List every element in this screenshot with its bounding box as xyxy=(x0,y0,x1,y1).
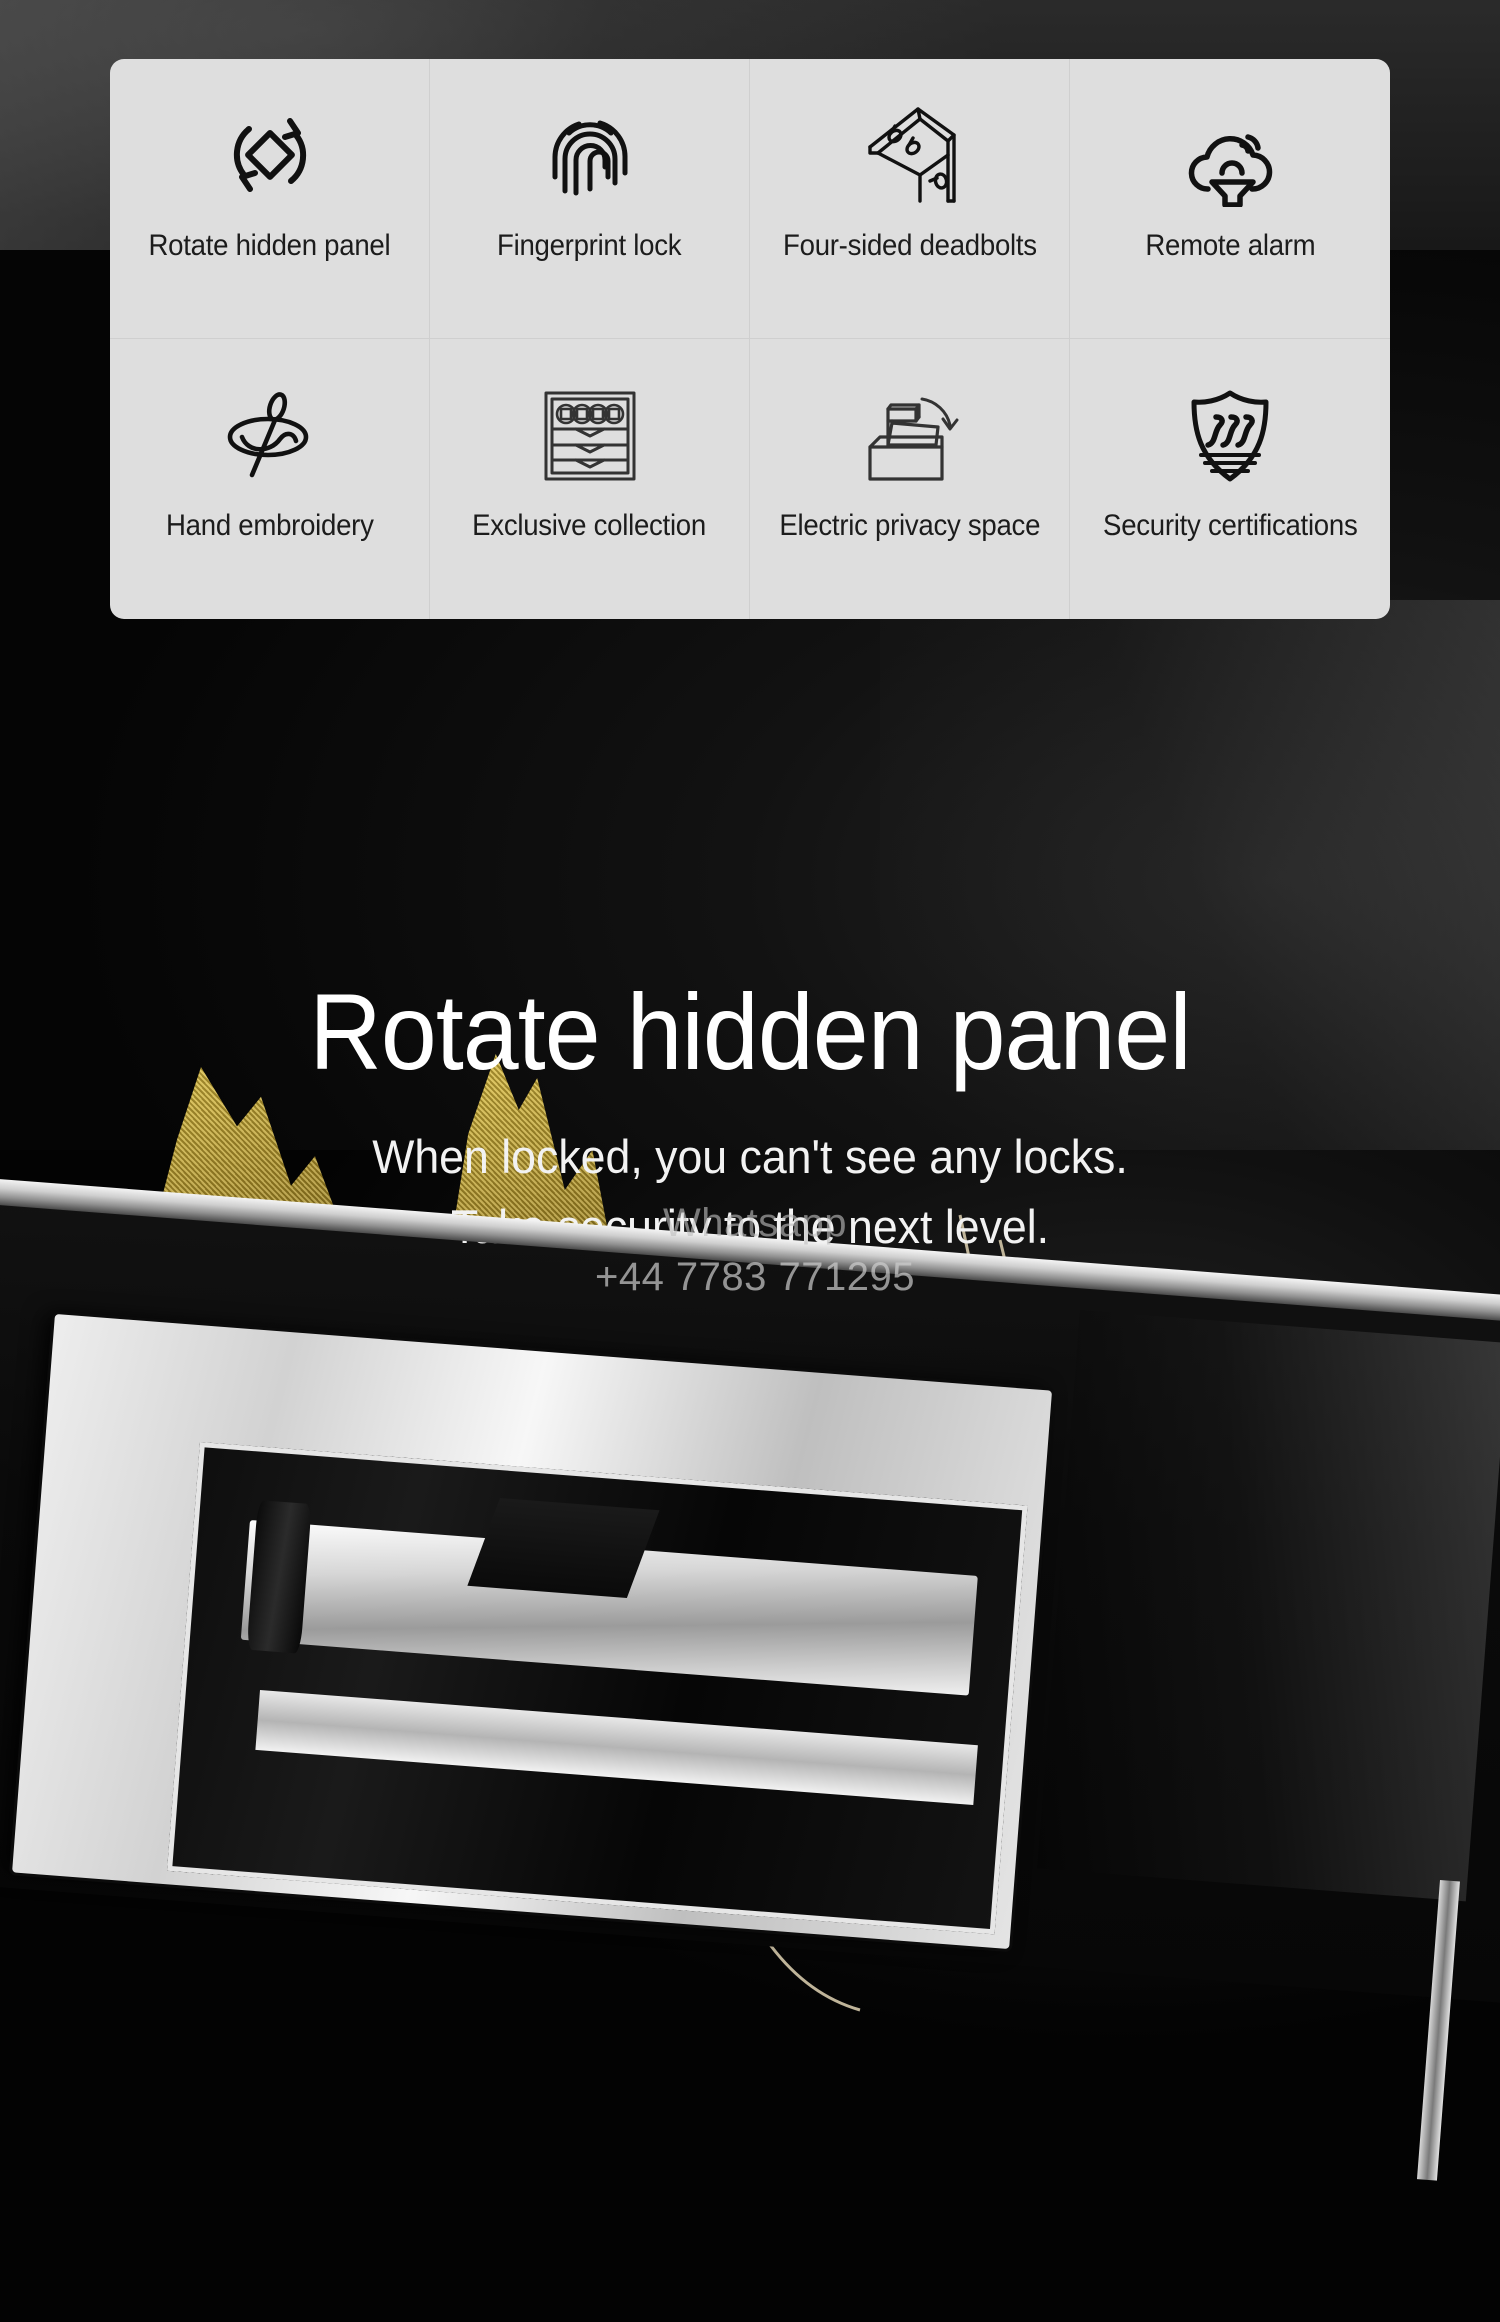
safe-knob xyxy=(246,1500,311,1654)
feature-label: Hand embroidery xyxy=(166,509,374,543)
rotate-diamond-icon xyxy=(216,101,324,209)
feature-label: Rotate hidden panel xyxy=(149,229,391,263)
feature-cell-hand-embroidery[interactable]: Hand embroidery xyxy=(110,339,430,619)
shield-waves-icon xyxy=(1176,381,1284,489)
fingerprint-icon xyxy=(536,101,644,209)
deadbolt-frame-icon xyxy=(856,101,964,209)
feature-label: Remote alarm xyxy=(1145,229,1315,263)
needle-thread-icon xyxy=(216,381,324,489)
feature-label: Security certifications xyxy=(1103,509,1357,543)
feature-cell-fingerprint-lock[interactable]: Fingerprint lock xyxy=(430,59,750,339)
feature-cell-electric-privacy-space[interactable]: Electric privacy space xyxy=(750,339,1070,619)
feature-grid-panel: Rotate hidden panel Fingerprint lock xyxy=(110,59,1390,619)
feature-cell-remote-alarm[interactable]: Remote alarm xyxy=(1070,59,1390,339)
feature-label: Exclusive collection xyxy=(473,509,707,543)
feature-cell-exclusive-collection[interactable]: Exclusive collection xyxy=(430,339,750,619)
feature-cell-four-sided-deadbolts[interactable]: Four-sided deadbolts xyxy=(750,59,1070,339)
hero-subline-1: When locked, you can't see any locks. xyxy=(38,1130,1463,1184)
feature-cell-rotate-hidden-panel[interactable]: Rotate hidden panel xyxy=(110,59,430,339)
lifting-lid-arrow-icon xyxy=(856,381,964,489)
page-title: Rotate hidden panel xyxy=(53,975,1448,1088)
safe-handle-notch xyxy=(467,1498,659,1598)
product-feature-page: Rotate hidden panel Fingerprint lock xyxy=(0,0,1500,2322)
watch-drawer-icon xyxy=(536,381,644,489)
feature-label: Electric privacy space xyxy=(779,509,1040,543)
feature-label: Four-sided deadbolts xyxy=(783,229,1037,263)
feature-cell-security-certifications[interactable]: Security certifications xyxy=(1070,339,1390,619)
cloud-wifi-alarm-icon xyxy=(1176,101,1284,209)
feature-label: Fingerprint lock xyxy=(497,229,681,263)
safe-right-panel xyxy=(1037,1310,1500,1901)
